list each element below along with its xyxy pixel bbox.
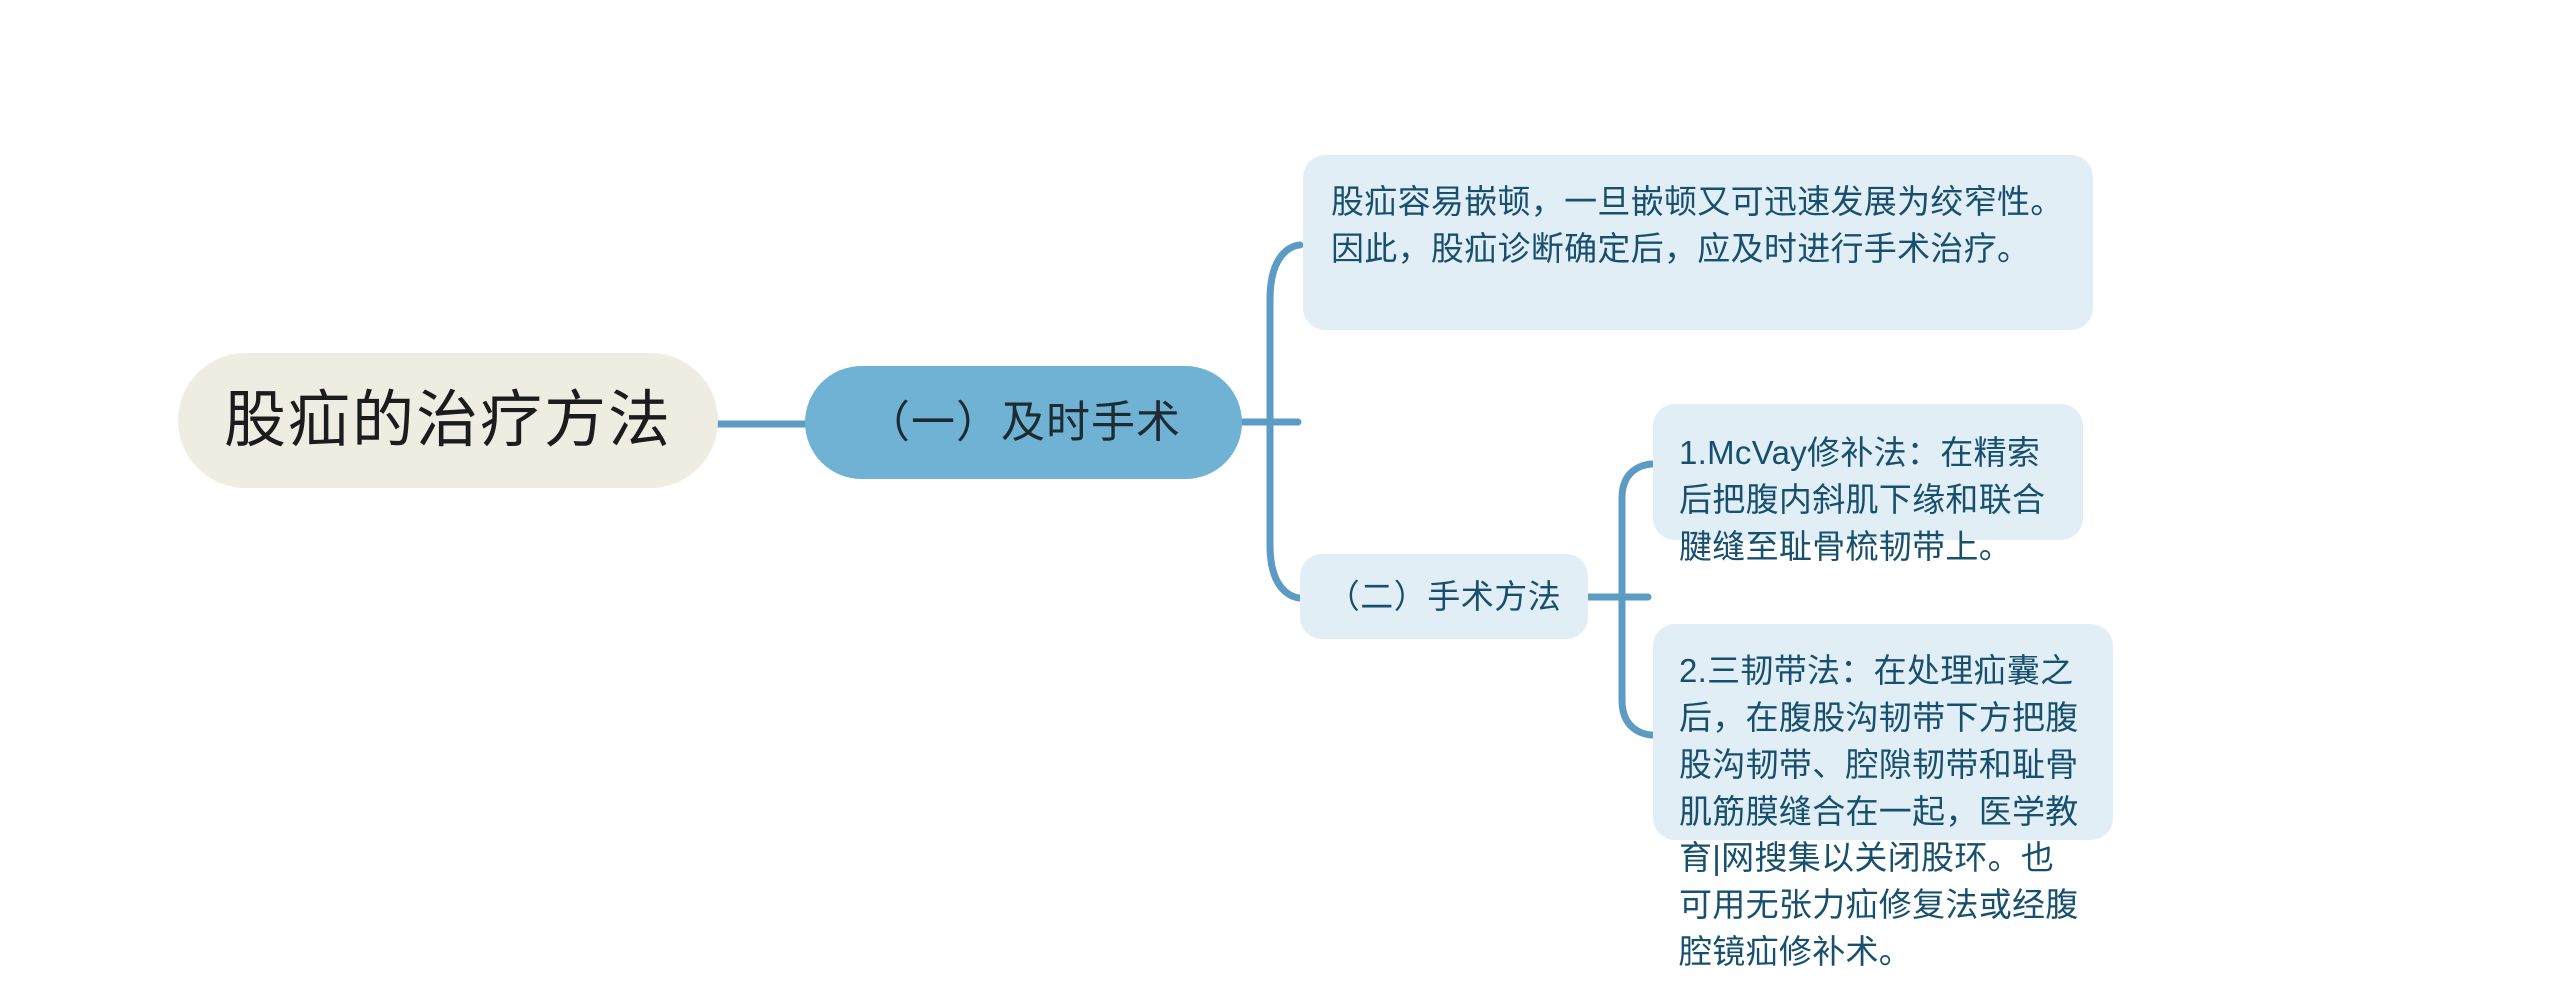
root-node-label: 股疝的治疗方法	[224, 390, 672, 452]
connector-spine-surgical-methods	[1622, 464, 1652, 735]
leaf-card-urgent-surgery-detail-text: 股疝容易嵌顿，一旦嵌顿又可迅速发展为绞窄性。因此，股疝诊断确定后，应及时进行手术…	[1331, 179, 2065, 273]
root-node[interactable]: 股疝的治疗方法	[178, 353, 718, 488]
branch-node-urgent-surgery-label: （一）及时手术	[866, 401, 1181, 445]
leaf-card-mcvay-repair-text: 1.McVay修补法：在精索后把腹内斜肌下缘和联合腱缝至耻骨梳韧带上。	[1679, 430, 2057, 571]
connector-spine-urgent-surgery	[1270, 245, 1300, 598]
mindmap-canvas: 股疝的治疗方法 （一）及时手术 股疝容易嵌顿，一旦嵌顿又可迅速发展为绞窄性。因此…	[0, 0, 2560, 987]
branch-node-surgical-methods[interactable]: （二）手术方法	[1300, 554, 1588, 639]
connector-lines	[0, 0, 2560, 987]
branch-node-surgical-methods-label: （二）手术方法	[1327, 580, 1562, 613]
leaf-card-three-ligament-method-text: 2.三韧带法：在处理疝囊之后，在腹股沟韧带下方把腹股沟韧带、腔隙韧带和耻骨肌筋膜…	[1679, 648, 2087, 976]
leaf-card-three-ligament-method[interactable]: 2.三韧带法：在处理疝囊之后，在腹股沟韧带下方把腹股沟韧带、腔隙韧带和耻骨肌筋膜…	[1653, 624, 2113, 840]
leaf-card-mcvay-repair[interactable]: 1.McVay修补法：在精索后把腹内斜肌下缘和联合腱缝至耻骨梳韧带上。	[1653, 404, 2083, 540]
branch-node-urgent-surgery[interactable]: （一）及时手术	[805, 366, 1242, 479]
leaf-card-urgent-surgery-detail[interactable]: 股疝容易嵌顿，一旦嵌顿又可迅速发展为绞窄性。因此，股疝诊断确定后，应及时进行手术…	[1303, 155, 2093, 330]
